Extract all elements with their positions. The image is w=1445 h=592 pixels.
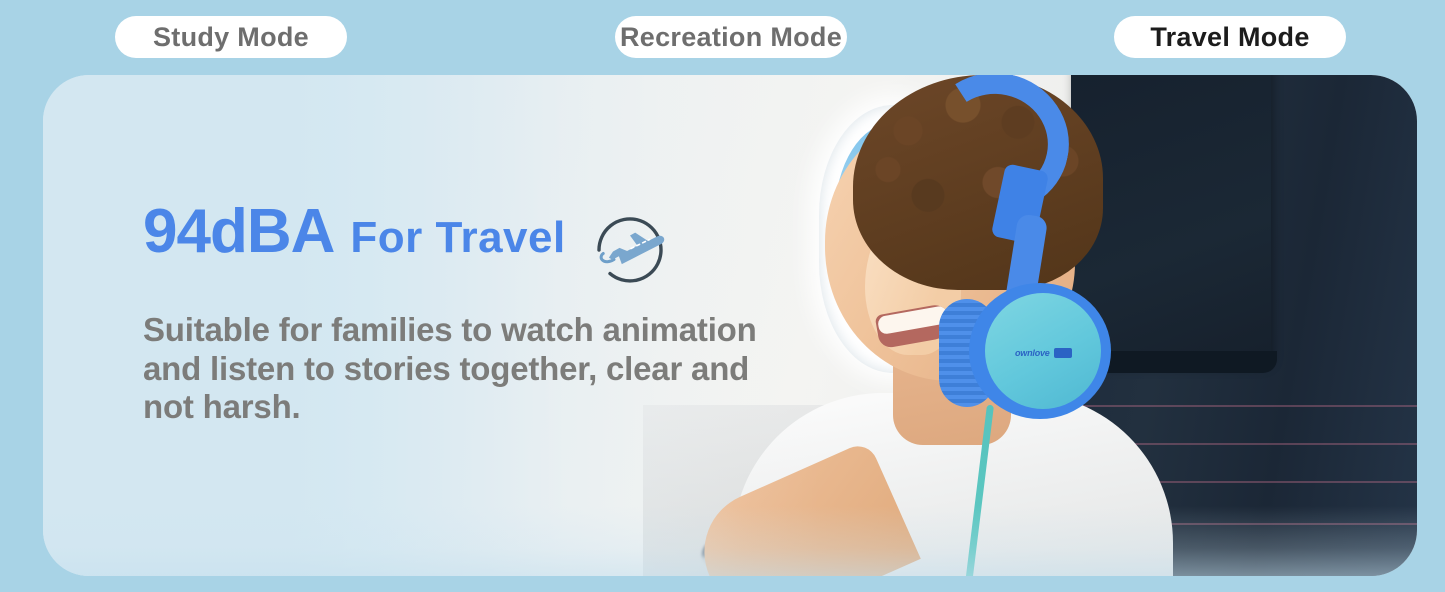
tab-study-mode[interactable]: Study Mode [115,16,347,58]
tab-travel-mode[interactable]: Travel Mode [1114,16,1346,58]
headphone-brand-text: ownlove [1015,348,1050,358]
headphone-earcup-face: ownlove [985,293,1101,409]
feature-copy: 94dBA For Travel Suitable for families t… [143,201,783,427]
airplane-takeoff-icon [587,207,673,293]
headline-rest: For Travel [350,216,565,260]
headphone-earcup: ownlove [969,283,1111,419]
tab-recreation-mode[interactable]: Recreation Mode [615,16,847,58]
headline-metric: 94dBA [143,201,334,263]
mode-tabs: Study Mode Recreation Mode Travel Mode [0,0,1445,75]
boy-subject: ownlove [773,75,1193,576]
headphone-brand-logo: ownlove [1015,345,1081,361]
feature-card: ownlove 94dBA For Travel [43,75,1417,576]
headphone-brand-mark [1054,348,1072,358]
feature-headline: 94dBA For Travel [143,201,783,285]
feature-body-text: Suitable for families to watch animation… [143,311,768,427]
